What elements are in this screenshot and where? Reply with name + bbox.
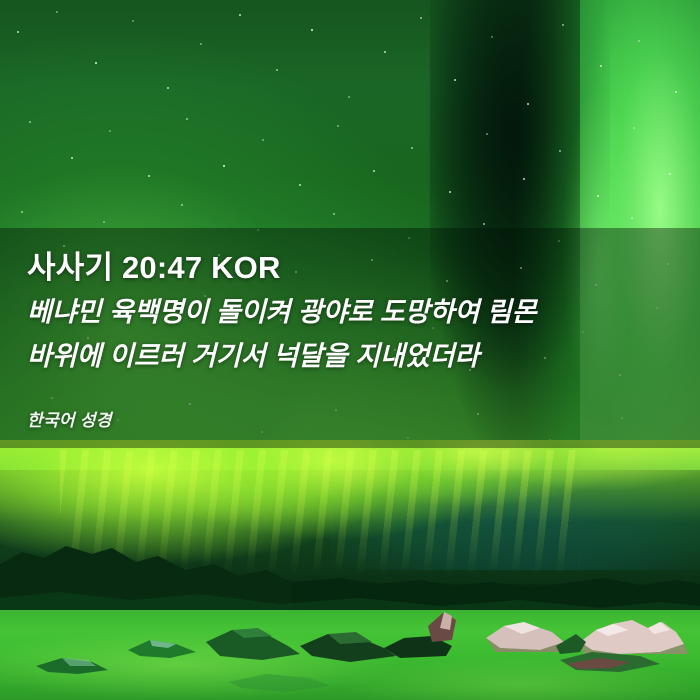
verse-body-line-1: 베냐민 육백명이 돌이켜 광야로 도망하여 림몬 [27,290,687,334]
verse-image-card: 사사기 20:47 KOR 베냐민 육백명이 돌이켜 광야로 도망하여 림몬 바… [0,0,700,700]
verse-body-text: 베냐민 육백명이 돌이켜 광야로 도망하여 림몬 바위에 이르러 거기서 넉달을… [27,290,687,378]
verse-reference: 사사기 20:47 KOR [27,242,281,287]
verse-source-label: 한국어 성경 [27,406,112,431]
verse-body-line-2: 바위에 이르러 거기서 넉달을 지내었더라 [27,334,687,378]
icebergs-layer [0,590,700,700]
verse-text-block: 사사기 20:47 KOR 베냐민 육백명이 돌이켜 광야로 도망하여 림몬 바… [0,228,700,448]
glacier-lagoon-scene [0,440,700,700]
